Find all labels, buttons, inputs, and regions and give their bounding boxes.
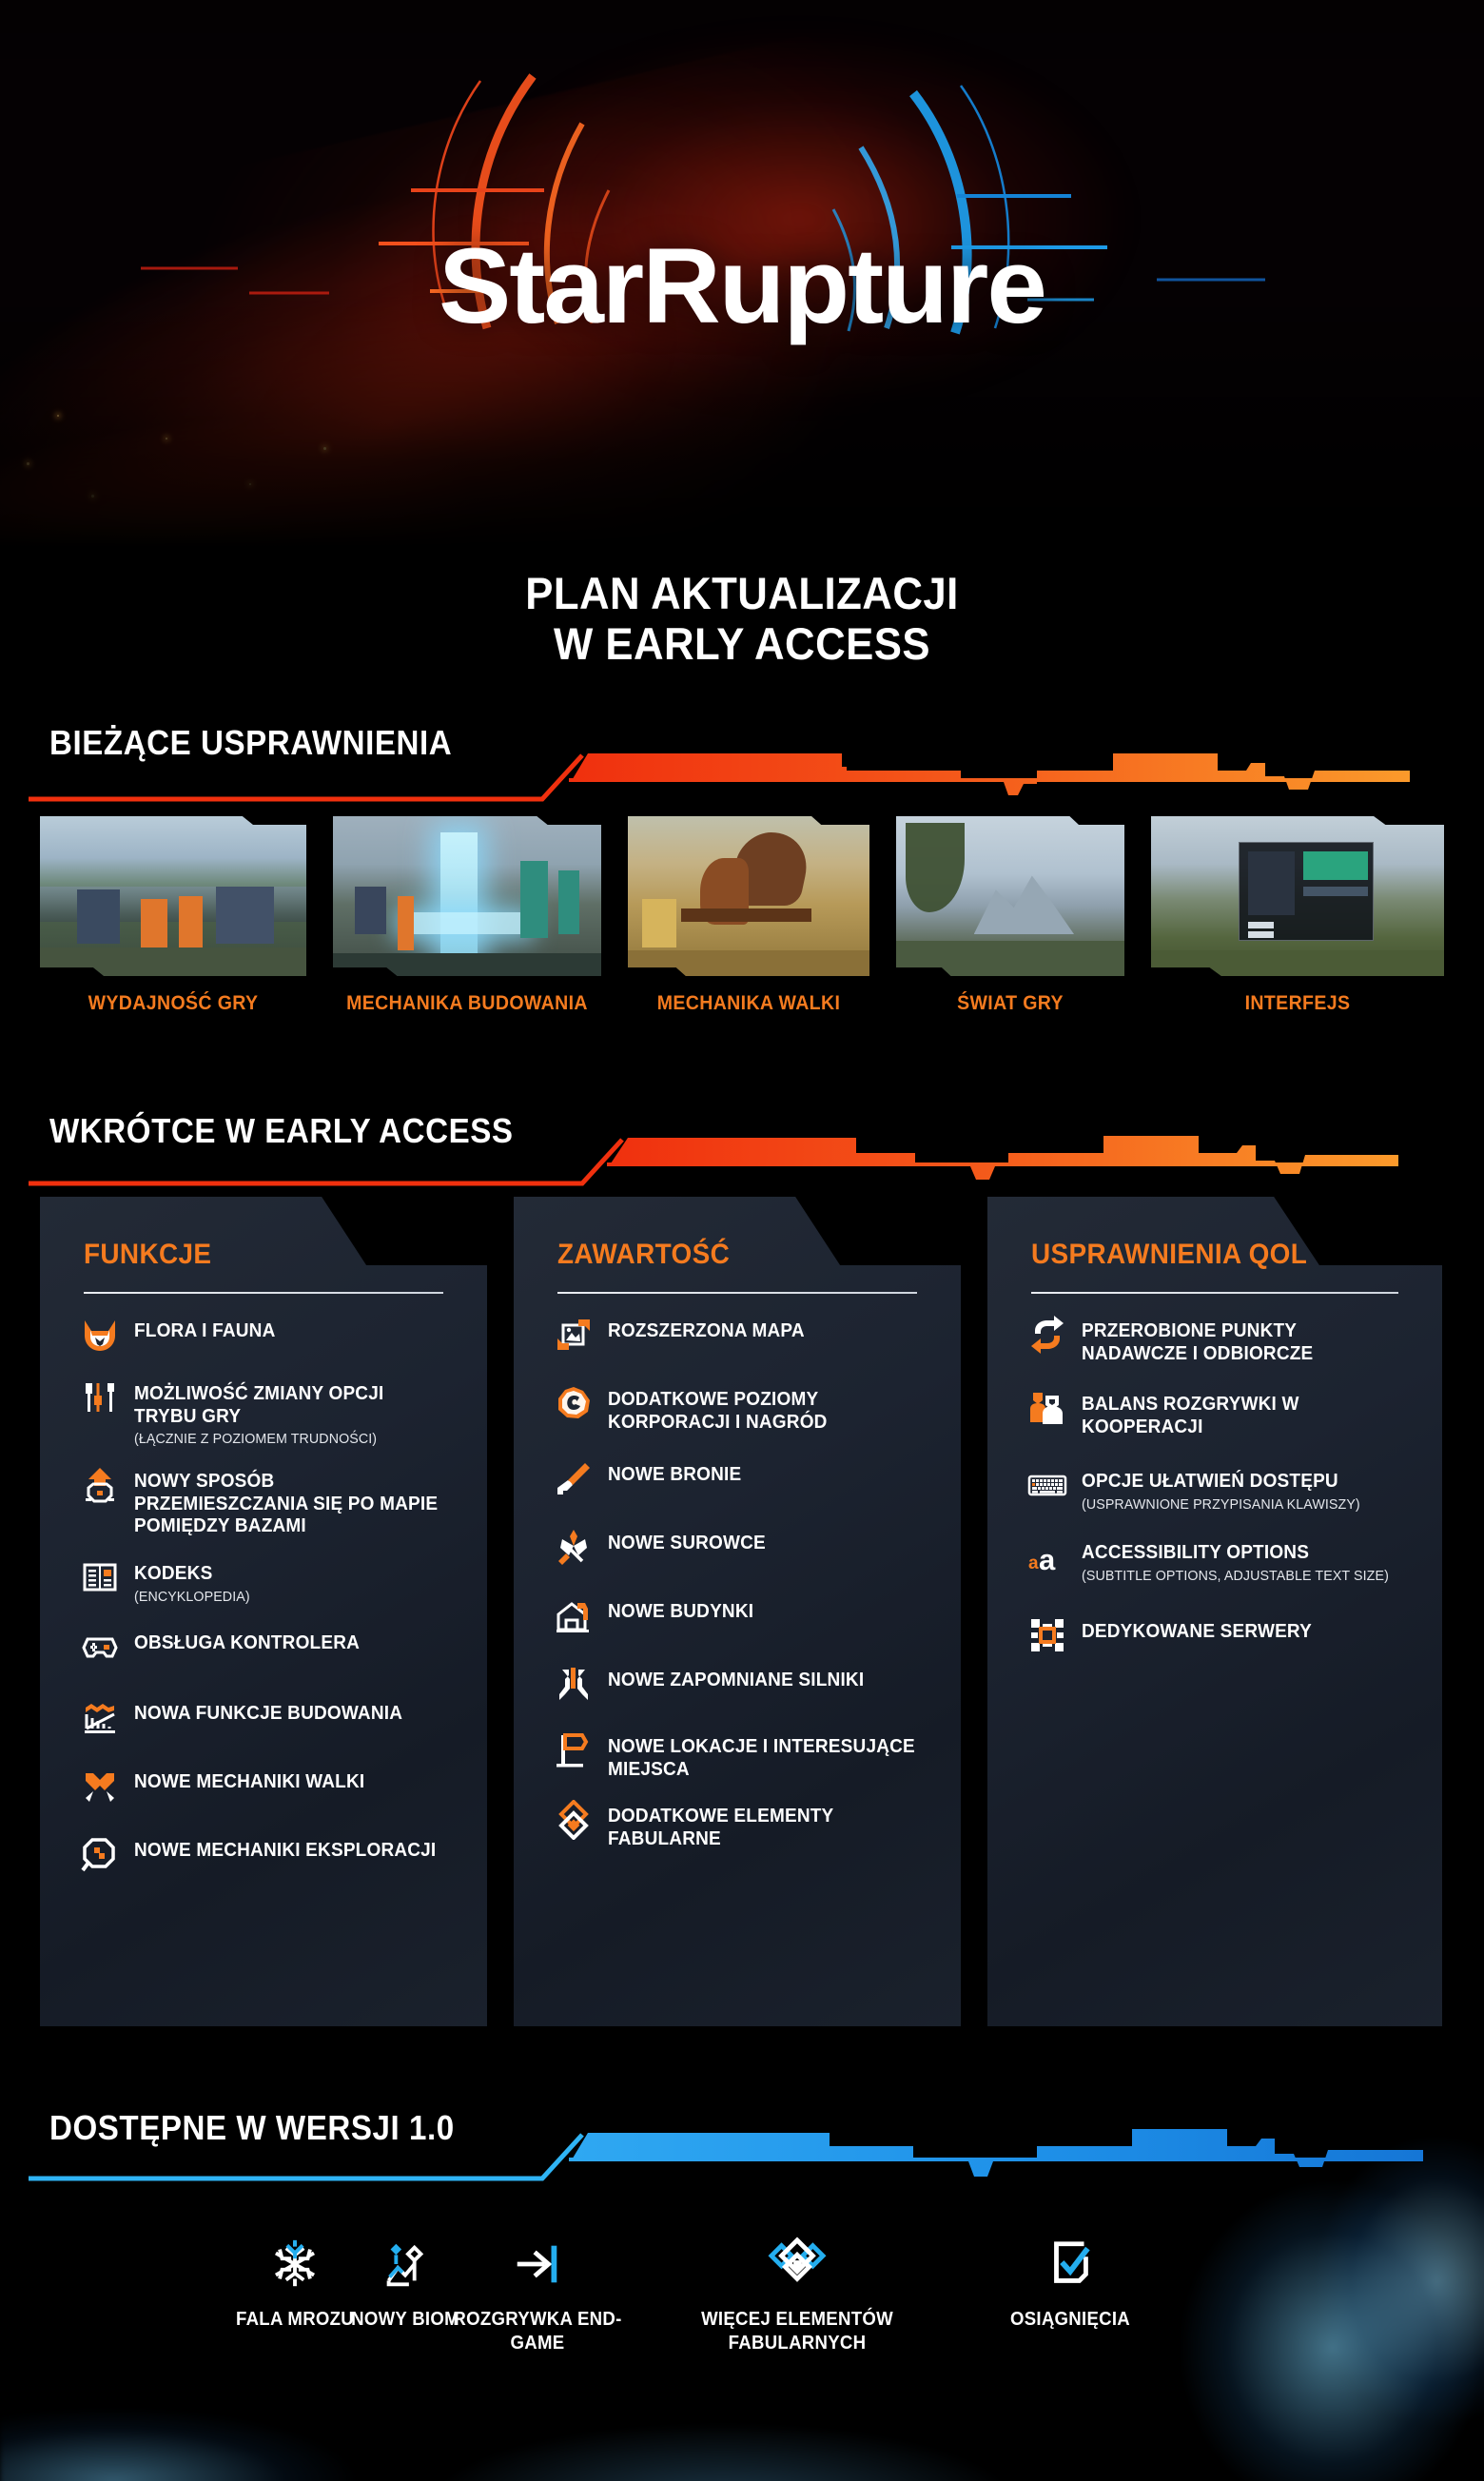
- section-header-soon: WKRÓTCE W EARLY ACCESS: [0, 1111, 1484, 1193]
- flag-poi-icon: [554, 1730, 594, 1770]
- list-item[interactable]: DODATKOWE POZIOMY KORPORACJI I NAGRÓD: [554, 1385, 936, 1434]
- list-item[interactable]: NOWE BUDYNKI: [554, 1597, 936, 1635]
- item-title: NOWE SUROWCE: [608, 1533, 766, 1555]
- svg-text:a: a: [1028, 1553, 1039, 1573]
- factory-building-icon: [554, 1595, 594, 1635]
- item-title: NOWE LOKACJE I INTERESUJĄCE MIEJSCA: [608, 1736, 920, 1781]
- hero-banner: StarRupture: [0, 0, 1484, 547]
- list-item[interactable]: NOWE ZAPOMNIANE SILNIKI: [554, 1666, 936, 1704]
- item-subtitle: (ŁĄCZNIE Z POZIOMEM TRUDNOŚCI): [134, 1431, 446, 1448]
- coop-players-icon: [1027, 1388, 1067, 1428]
- item-subtitle: (ENCYKLOPEDIA): [134, 1589, 250, 1606]
- panel-divider: [557, 1292, 917, 1294]
- thumbnail-label-3: ŚWIAT GRY: [904, 992, 1116, 1015]
- item-title: BALANS ROZGRYWKI W KOOPERACJI: [1082, 1394, 1400, 1438]
- item-subtitle: (SUBTITLE OPTIONS, ADJUSTABLE TEXT SIZE): [1082, 1568, 1389, 1585]
- section-title-v10: DOSTĘPNE W WERSJI 1.0: [49, 2108, 455, 2148]
- magnifier-icon: [80, 1834, 120, 1874]
- list-item[interactable]: DEDYKOWANE SERWERY: [1027, 1617, 1417, 1655]
- panel-zawartosc: ZAWARTOŚĆ ROZSZERZONA MAPA: [514, 1197, 961, 2026]
- panel-qol: USPRAWNIENIA QOL PRZEROBIONE PUNKTY NADA…: [987, 1197, 1442, 2026]
- story-diamond-icon: [554, 1800, 594, 1840]
- page-title-line2: W EARLY ACCESS: [52, 619, 1433, 670]
- list-item[interactable]: PRZEROBIONE PUNKTY NADAWCZE I ODBIORCZE: [1027, 1317, 1417, 1365]
- plant-resource-icon: [554, 1527, 594, 1567]
- list-item[interactable]: NOWA FUNKCJE BUDOWANIA: [80, 1699, 462, 1737]
- list-item[interactable]: OPCJE UŁATWIEŃ DOSTĘPU (USPRAWNIONE PRZY…: [1027, 1467, 1417, 1514]
- current-improvements-gallery: WYDAJNOŚĆ GRY MECHANIKA BUDOWANIA MECHAN…: [0, 816, 1484, 1045]
- item-title: NOWE ZAPOMNIANE SILNIKI: [608, 1670, 864, 1692]
- open-book-icon: [80, 1557, 120, 1597]
- starrupture-logo: StarRupture: [0, 57, 1484, 342]
- item-title: NOWE MECHANIKI EKSPLORACJI: [134, 1840, 436, 1863]
- list-item[interactable]: NOWE BRONIE: [554, 1460, 936, 1498]
- list-item[interactable]: NOWE LOKACJE I INTERESUJĄCE MIEJSCA: [554, 1732, 936, 1781]
- item-title: DODATKOWE ELEMENTY FABULARNE: [608, 1806, 920, 1850]
- panel-divider: [1031, 1292, 1398, 1294]
- list-item[interactable]: NOWY SPOSÓB PRZEMIESZCZANIA SIĘ PO MAPIE…: [80, 1467, 462, 1538]
- version-10-feature-list: FALA MROZU NOWY BIOM ROZGRYWKA END-GAME: [0, 2236, 1484, 2426]
- swap-arrows-icon: [1027, 1315, 1067, 1355]
- item-title: OPCJE UŁATWIEŃ DOSTĘPU: [1082, 1471, 1360, 1494]
- item-title: PRZEROBIONE PUNKTY NADAWCZE I ODBIORCZE: [1082, 1320, 1400, 1365]
- list-item[interactable]: MOŻLIWOŚĆ ZMIANY OPCJI TRYBU GRY (ŁĄCZNI…: [80, 1379, 462, 1448]
- panel-items-qol: PRZEROBIONE PUNKTY NADAWCZE I ODBIORCZE …: [1027, 1317, 1417, 1655]
- thumbnail-label-2: MECHANIKA WALKI: [628, 992, 870, 1015]
- crossed-blades-icon: [80, 1766, 120, 1806]
- thumbnail-mechanika-budowania[interactable]: [333, 816, 601, 976]
- thumbnail-label-1: MECHANIKA BUDOWANIA: [324, 992, 609, 1015]
- list-item[interactable]: a a ACCESSIBILITY OPTIONS (SUBTITLE OPTI…: [1027, 1538, 1417, 1585]
- page-title-line1: PLAN AKTUALIZACJI: [52, 569, 1433, 619]
- text-size-aa-icon: a a: [1027, 1536, 1067, 1576]
- v10-item-wiecej-elementow[interactable]: WIĘCEJ ELEMENTÓW FABULARNYCH: [666, 2236, 928, 2355]
- item-title: KODEKS: [134, 1563, 250, 1586]
- v10-label: ROZGRYWKA END-GAME: [444, 2308, 630, 2355]
- section-header-current: BIEŻĄCE USPRAWNIENIA: [0, 723, 1484, 805]
- item-title: NOWE BUDYNKI: [608, 1601, 753, 1624]
- item-title: DODATKOWE POZIOMY KORPORACJI I NAGRÓD: [608, 1389, 920, 1434]
- panel-title-qol: USPRAWNIENIA QOL: [1031, 1239, 1307, 1271]
- list-item[interactable]: FLORA I FAUNA: [80, 1317, 462, 1355]
- engine-icon: [554, 1664, 594, 1704]
- panel-funkcje: FUNKCJE FLORA I FAUNA: [40, 1197, 487, 2026]
- teleport-arrow-icon: [80, 1465, 120, 1505]
- thumbnail-label-4: INTERFEJS: [1162, 992, 1434, 1015]
- list-item[interactable]: OBSŁUGA KONTROLERA: [80, 1629, 462, 1667]
- item-title: FLORA I FAUNA: [134, 1320, 275, 1343]
- thumbnail-swiat-gry[interactable]: [896, 816, 1124, 976]
- item-title: MOŻLIWOŚĆ ZMIANY OPCJI TRYBU GRY: [134, 1383, 446, 1428]
- list-item[interactable]: ROZSZERZONA MAPA: [554, 1317, 936, 1355]
- v10-item-rozgrywka-endgame[interactable]: ROZGRYWKA END-GAME: [438, 2236, 637, 2355]
- panel-divider: [84, 1292, 443, 1294]
- thumbnail-wydajnosc-gry[interactable]: [40, 816, 306, 976]
- section-header-v10: DOSTĘPNE W WERSJI 1.0: [0, 2108, 1484, 2190]
- section-title-current: BIEŻĄCE USPRAWNIENIA: [49, 723, 452, 763]
- checkbox-icon: [961, 2236, 1180, 2293]
- list-item[interactable]: NOWE MECHANIKI WALKI: [80, 1768, 462, 1806]
- gamepad-icon: [80, 1627, 120, 1667]
- expand-map-icon: [554, 1315, 594, 1355]
- server-nodes-icon: [1027, 1615, 1067, 1655]
- panel-items-funkcje: FLORA I FAUNA MOŻLIWOŚĆ ZMIANY OPCJI TRY…: [80, 1317, 462, 1874]
- panel-items-zawartosc: ROZSZERZONA MAPA DODATKOWE POZIOMY KORPO…: [554, 1317, 936, 1851]
- list-item[interactable]: NOWE SUROWCE: [554, 1529, 936, 1567]
- keyboard-icon: [1027, 1465, 1067, 1505]
- v10-label: OSIĄGNIĘCIA: [968, 2308, 1172, 2332]
- logo-wordmark: StarRupture: [0, 233, 1484, 340]
- list-item[interactable]: DODATKOWE ELEMENTY FABULARNE: [554, 1802, 936, 1850]
- panel-title-funkcje: FUNKCJE: [84, 1239, 211, 1271]
- v10-item-osiagniecia[interactable]: OSIĄGNIĘCIA: [961, 2236, 1180, 2332]
- item-title: NOWE BRONIE: [608, 1464, 741, 1487]
- list-item[interactable]: NOWE MECHANIKI EKSPLORACJI: [80, 1836, 462, 1874]
- thumbnail-interfejs[interactable]: [1151, 816, 1444, 976]
- section-title-soon: WKRÓTCE W EARLY ACCESS: [49, 1111, 514, 1151]
- thumbnail-mechanika-walki[interactable]: [628, 816, 869, 976]
- factory-chart-icon: [80, 1697, 120, 1737]
- item-title: NOWE MECHANIKI WALKI: [134, 1771, 364, 1794]
- list-item[interactable]: KODEKS (ENCYKLOPEDIA): [80, 1559, 462, 1606]
- soon-columns: FUNKCJE FLORA I FAUNA: [0, 1197, 1484, 2034]
- item-title: ACCESSIBILITY OPTIONS: [1082, 1542, 1389, 1565]
- weapon-icon: [554, 1458, 594, 1498]
- story-links-icon: [666, 2236, 928, 2293]
- item-title: NOWY SPOSÓB PRZEMIESZCZANIA SIĘ PO MAPIE…: [134, 1471, 446, 1538]
- corporation-c-icon: [554, 1383, 594, 1423]
- item-title: NOWA FUNKCJE BUDOWANIA: [134, 1703, 402, 1726]
- sliders-icon: [80, 1377, 120, 1417]
- item-title: DEDYKOWANE SERWERY: [1082, 1621, 1312, 1644]
- item-title: OBSŁUGA KONTROLERA: [134, 1632, 360, 1655]
- thumbnail-label-0: WYDAJNOŚĆ GRY: [49, 992, 297, 1015]
- list-item[interactable]: BALANS ROZGRYWKI W KOOPERACJI: [1027, 1390, 1417, 1438]
- page-title: PLAN AKTUALIZACJI W EARLY ACCESS: [52, 569, 1433, 669]
- fox-head-icon: [80, 1315, 120, 1355]
- svg-text:a: a: [1039, 1543, 1056, 1576]
- endgame-arrow-icon: [438, 2236, 637, 2293]
- item-subtitle: (USPRAWNIONE PRZYPISANIA KLAWISZY): [1082, 1496, 1360, 1514]
- panel-title-zawartosc: ZAWARTOŚĆ: [557, 1239, 730, 1271]
- item-title: ROZSZERZONA MAPA: [608, 1320, 805, 1343]
- v10-label: WIĘCEJ ELEMENTÓW FABULARNYCH: [675, 2308, 920, 2355]
